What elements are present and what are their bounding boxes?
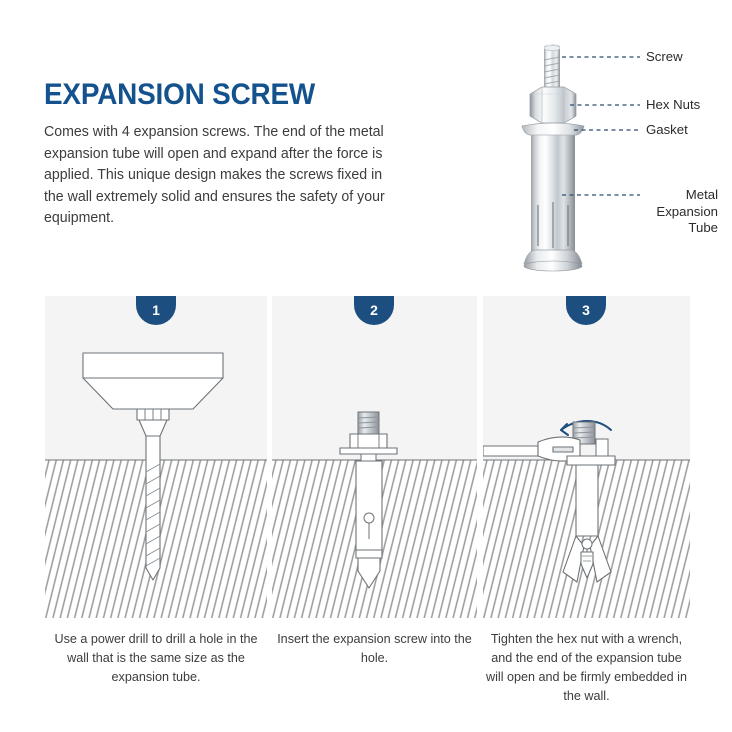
power-drill-icon — [45, 296, 267, 618]
step-panel-1: 1 — [45, 296, 267, 618]
callout-label-hex-nuts: Hex Nuts — [646, 97, 700, 114]
wrench-shape — [483, 437, 580, 461]
step-panel-3: 3 — [483, 296, 690, 618]
step-panel-2: 2 — [272, 296, 477, 618]
step-caption-2: Insert the expansion screw into the hole… — [274, 630, 475, 668]
intro-paragraph: Comes with 4 expansion screws. The end o… — [44, 122, 393, 230]
page-title: EXPANSION SCREW — [44, 78, 315, 112]
header-section: EXPANSION SCREW Comes with 4 expansion s… — [0, 0, 732, 286]
steps-section: 1 — [0, 296, 732, 626]
callout-label-metal-expansion-tube: Metal Expansion Tube — [646, 187, 718, 237]
step-caption-3: Tighten the hex nut with a wrench, and t… — [481, 630, 692, 706]
product-illustration: Screw Hex Nuts Gasket Metal Expansion Tu… — [512, 30, 732, 280]
infographic-page: EXPANSION SCREW Comes with 4 expansion s… — [0, 0, 732, 732]
callout-label-screw: Screw — [646, 49, 683, 66]
step-caption-1: Use a power drill to drill a hole in the… — [49, 630, 263, 687]
callout-label-gasket: Gasket — [646, 122, 688, 139]
callout-labels: Screw Hex Nuts Gasket Metal Expansion Tu… — [512, 30, 732, 280]
wrench-tighten-icon — [483, 296, 690, 618]
captions-section: Use a power drill to drill a hole in the… — [0, 630, 732, 720]
expansion-screw-inserted-icon — [272, 296, 477, 618]
